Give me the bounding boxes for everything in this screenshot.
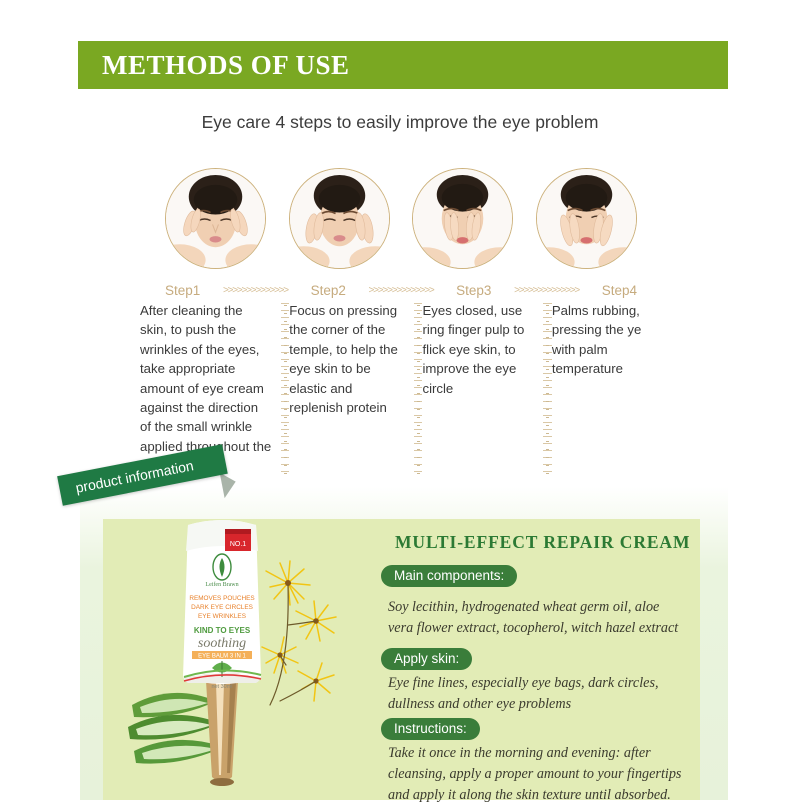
face-photo-step1-icon (166, 169, 265, 268)
step-label-2: Step2 (311, 283, 346, 298)
product-tube-image: NO.1 Leifen Brawn REMOVES POUCHES DARK E… (120, 505, 370, 800)
step-photo-1 (165, 168, 266, 269)
pill-instructions: Instructions: (381, 718, 480, 740)
page-title: METHODS OF USE (102, 50, 350, 81)
step-photo-2 (289, 168, 390, 269)
svg-text:DARK EYE CIRCLES: DARK EYE CIRCLES (191, 604, 253, 611)
step-photo-4 (536, 168, 637, 269)
step-label-4: Step4 (602, 283, 637, 298)
step-arrow-3-4: >>>>>>>>>>>>>> (491, 285, 601, 296)
step-arrow-2-3: >>>>>>>>>>>>>> (346, 285, 456, 296)
step-description-2: Focus on pressing the corner of the temp… (289, 301, 414, 476)
pill-main-components: Main components: (381, 565, 517, 587)
product-artwork: NO.1 Leifen Brawn REMOVES POUCHES DARK E… (120, 505, 370, 800)
step-photo-3 (412, 168, 513, 269)
step-description-3: Eyes closed, use ring finger pulp to fli… (422, 301, 543, 476)
svg-text:soothing: soothing (198, 636, 246, 651)
witch-hazel-flower-icon (262, 561, 336, 705)
subtitle-text: Eye care 4 steps to easily improve the e… (0, 112, 800, 133)
svg-text:REMOVES POUCHES: REMOVES POUCHES (189, 595, 254, 602)
pill-apply-skin: Apply skin: (381, 648, 472, 670)
divider-2 (414, 301, 423, 476)
divider-1 (281, 301, 290, 476)
step-labels-row: Step1 >>>>>>>>>>>>>> Step2 >>>>>>>>>>>>>… (165, 281, 637, 299)
svg-text:EYE WRINKLES: EYE WRINKLES (198, 613, 246, 620)
svg-text:Leifen Brawn: Leifen Brawn (205, 581, 238, 588)
svg-text:EYE BALM 3 IN 1: EYE BALM 3 IN 1 (198, 654, 246, 660)
step-label-3: Step3 (456, 283, 491, 298)
face-photo-step3-icon (413, 169, 512, 268)
text-instructions: Take it once in the morning and evening:… (388, 743, 688, 806)
svg-text:KIND TO EYES: KIND TO EYES (194, 626, 251, 635)
gold-cap-icon (206, 681, 238, 786)
step-arrow-1-2: >>>>>>>>>>>>>> (200, 285, 310, 296)
step-label-1: Step1 (165, 283, 200, 298)
svg-text:net 30ml: net 30ml (211, 684, 232, 690)
divider-3 (543, 301, 552, 476)
text-apply-skin: Eye fine lines, especially eye bags, dar… (388, 673, 688, 715)
step-photos-row (165, 168, 637, 272)
step-description-4: Palms rubbing, pressing the ye with palm… (552, 301, 668, 476)
text-main-components: Soy lecithin, hydrogenated wheat germ oi… (388, 597, 688, 639)
cream-tube-icon: NO.1 Leifen Brawn REMOVES POUCHES DARK E… (183, 520, 261, 690)
face-photo-step2-icon (290, 169, 389, 268)
section-header-bar: METHODS OF USE (78, 41, 728, 89)
product-title: MULTI-EFFECT REPAIR CREAM (395, 532, 690, 553)
face-photo-step4-icon (537, 169, 636, 268)
svg-text:NO.1: NO.1 (230, 541, 246, 548)
